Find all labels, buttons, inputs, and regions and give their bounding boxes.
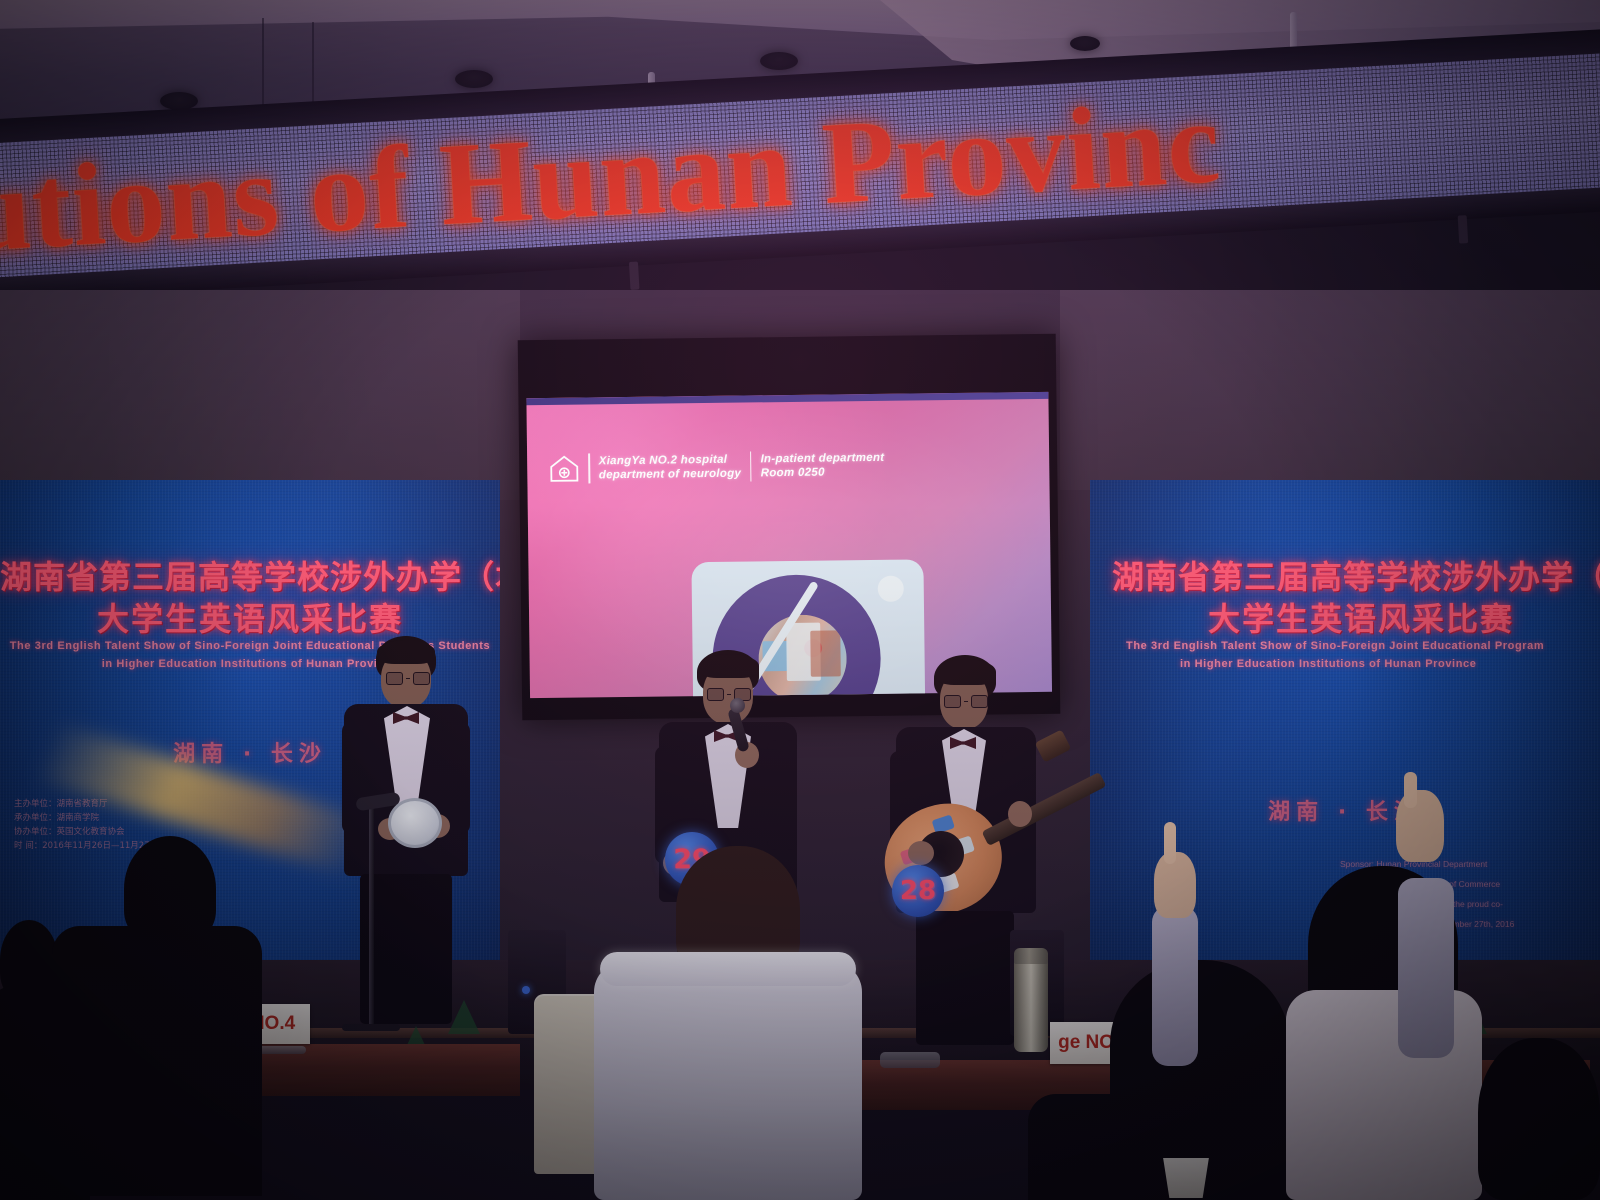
glasses-icon [386, 672, 430, 685]
room-number: Room 0250 [761, 465, 885, 481]
glasses-bridge [406, 678, 410, 680]
glasses-lens [944, 695, 961, 708]
glasses-lens [413, 672, 430, 685]
banner-right-city: 湖南 · 长沙 [1090, 794, 1600, 826]
performer-tambourine-player [320, 630, 500, 1030]
ceiling-downlight-icon [455, 70, 493, 88]
tambourine-instrument [388, 798, 442, 848]
slide-header: XiangYa NO.2 hospital department of neur… [549, 450, 885, 484]
banner-left-org-1: 主办单位：湖南省教育厅 [14, 798, 108, 810]
banner-right-subtitle-en-line2: in Higher Education Institutions of Huna… [1180, 658, 1600, 670]
microphone-stand [369, 800, 374, 1030]
audience-head-far-right [1478, 1038, 1600, 1200]
glasses-icon [707, 688, 751, 701]
ashtray [880, 1052, 940, 1068]
pen-on-table [258, 1046, 306, 1054]
banner-left-org-4: 时 间：2016年11月26日—11月27日 [14, 840, 158, 852]
glasses-bridge [964, 701, 968, 703]
banner-left-org-3: 协办单位：英国文化教育协会 [14, 826, 125, 838]
slide-header-left: XiangYa NO.2 hospital department of neur… [599, 453, 742, 483]
banner-right-title-cn-line2: 大学生英语风采比赛 [1208, 594, 1600, 640]
coat-fur-collar [600, 952, 856, 986]
microphone-stand-base [342, 1024, 400, 1031]
hair-fringe [936, 659, 996, 685]
glasses-bridge [727, 694, 731, 696]
slide-top-accent-bar [526, 392, 1048, 405]
guitar-headstock [1035, 729, 1072, 762]
speaker-led-indicator [522, 986, 530, 994]
slide-header-divider [750, 451, 752, 481]
raised-finger-left [1164, 822, 1176, 864]
hand-strumming [908, 841, 934, 865]
banner-right-subtitle-en-line1: The 3rd English Talent Show of Sino-Fore… [1126, 640, 1600, 652]
audience-body-judge4 [52, 926, 262, 1196]
contestant-badge-28: 28 [892, 865, 944, 917]
tonearm-pivot [878, 576, 904, 602]
hand-fretting [1008, 801, 1032, 827]
slide-header-right: In-patient department Room 0250 [760, 451, 884, 481]
audience-sweater-sleeve-left [1152, 906, 1198, 1066]
glasses-lens [386, 672, 403, 685]
department-label: In-patient department [760, 451, 884, 467]
ceiling-downlight-icon [760, 52, 798, 70]
legs [916, 911, 1014, 1045]
thermos-cap [1014, 948, 1048, 964]
banner-right-title-cn-line1: 湖南省第三届高等学校涉外办学（本 [1112, 552, 1600, 598]
hair-fringe [699, 654, 759, 678]
slide-header-divider [588, 453, 590, 483]
audience-sweater-sleeve-right [1398, 878, 1454, 1058]
microphone-head [730, 698, 745, 713]
hair-fringe [377, 640, 435, 664]
banner-left-title-cn-line1: 湖南省第三届高等学校涉外办学（本科组） [0, 552, 500, 598]
led-bracket [1458, 215, 1469, 243]
raised-hand-left [1154, 852, 1196, 918]
thermos-flask [1014, 956, 1048, 1052]
led-bracket [629, 261, 640, 289]
audience-white-coat [594, 962, 862, 1200]
glasses-lens [971, 695, 988, 708]
stage-photo: tutions of Hunan Provinc XiangYa NO.2 ho… [0, 0, 1600, 1200]
wall-panel-right [1060, 290, 1600, 490]
arm-left [342, 722, 370, 834]
arm-right [767, 740, 797, 850]
ceiling-downlight-icon [1070, 36, 1100, 51]
glasses-icon [944, 695, 988, 708]
raised-finger-right [1404, 772, 1417, 808]
banner-left-org-2: 承办单位：湖南商学院 [14, 812, 99, 824]
hospital-department: department of neurology [599, 467, 742, 483]
glasses-lens [707, 688, 724, 701]
hospital-house-icon [549, 455, 579, 483]
wall-panel-left [0, 290, 520, 500]
